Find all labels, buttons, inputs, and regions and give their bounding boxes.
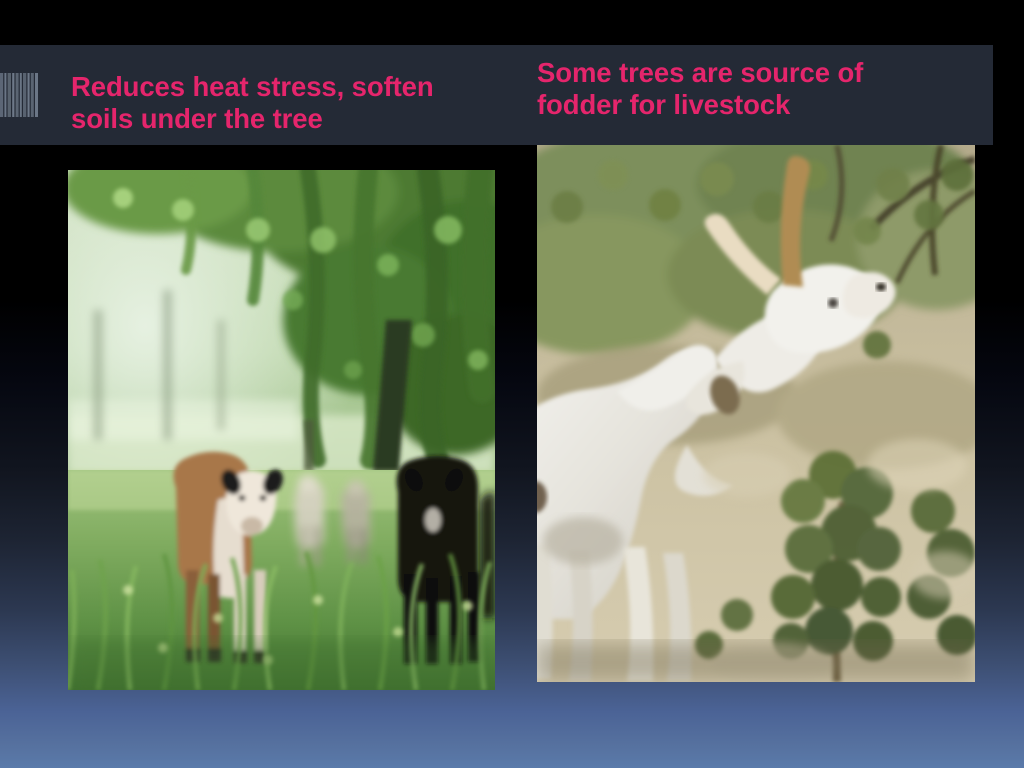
caption-text-left: Reduces heat stress, soften soils under …	[71, 71, 501, 135]
caption-band: Reduces heat stress, soften soils under …	[0, 45, 993, 145]
slide-canvas: Reduces heat stress, soften soils under …	[0, 0, 1024, 768]
caption-text-right: Some trees are source of fodder for live…	[537, 57, 937, 121]
caption-block-left: Reduces heat stress, soften soils under …	[0, 45, 537, 145]
white-zebu-browsing-tree-photo	[537, 145, 975, 682]
caption-block-right: Some trees are source of fodder for live…	[537, 45, 993, 145]
caption-columns: Reduces heat stress, soften soils under …	[0, 45, 993, 145]
cattle-under-trees-photo	[68, 170, 495, 690]
barcode-bullet-icon	[0, 73, 38, 117]
